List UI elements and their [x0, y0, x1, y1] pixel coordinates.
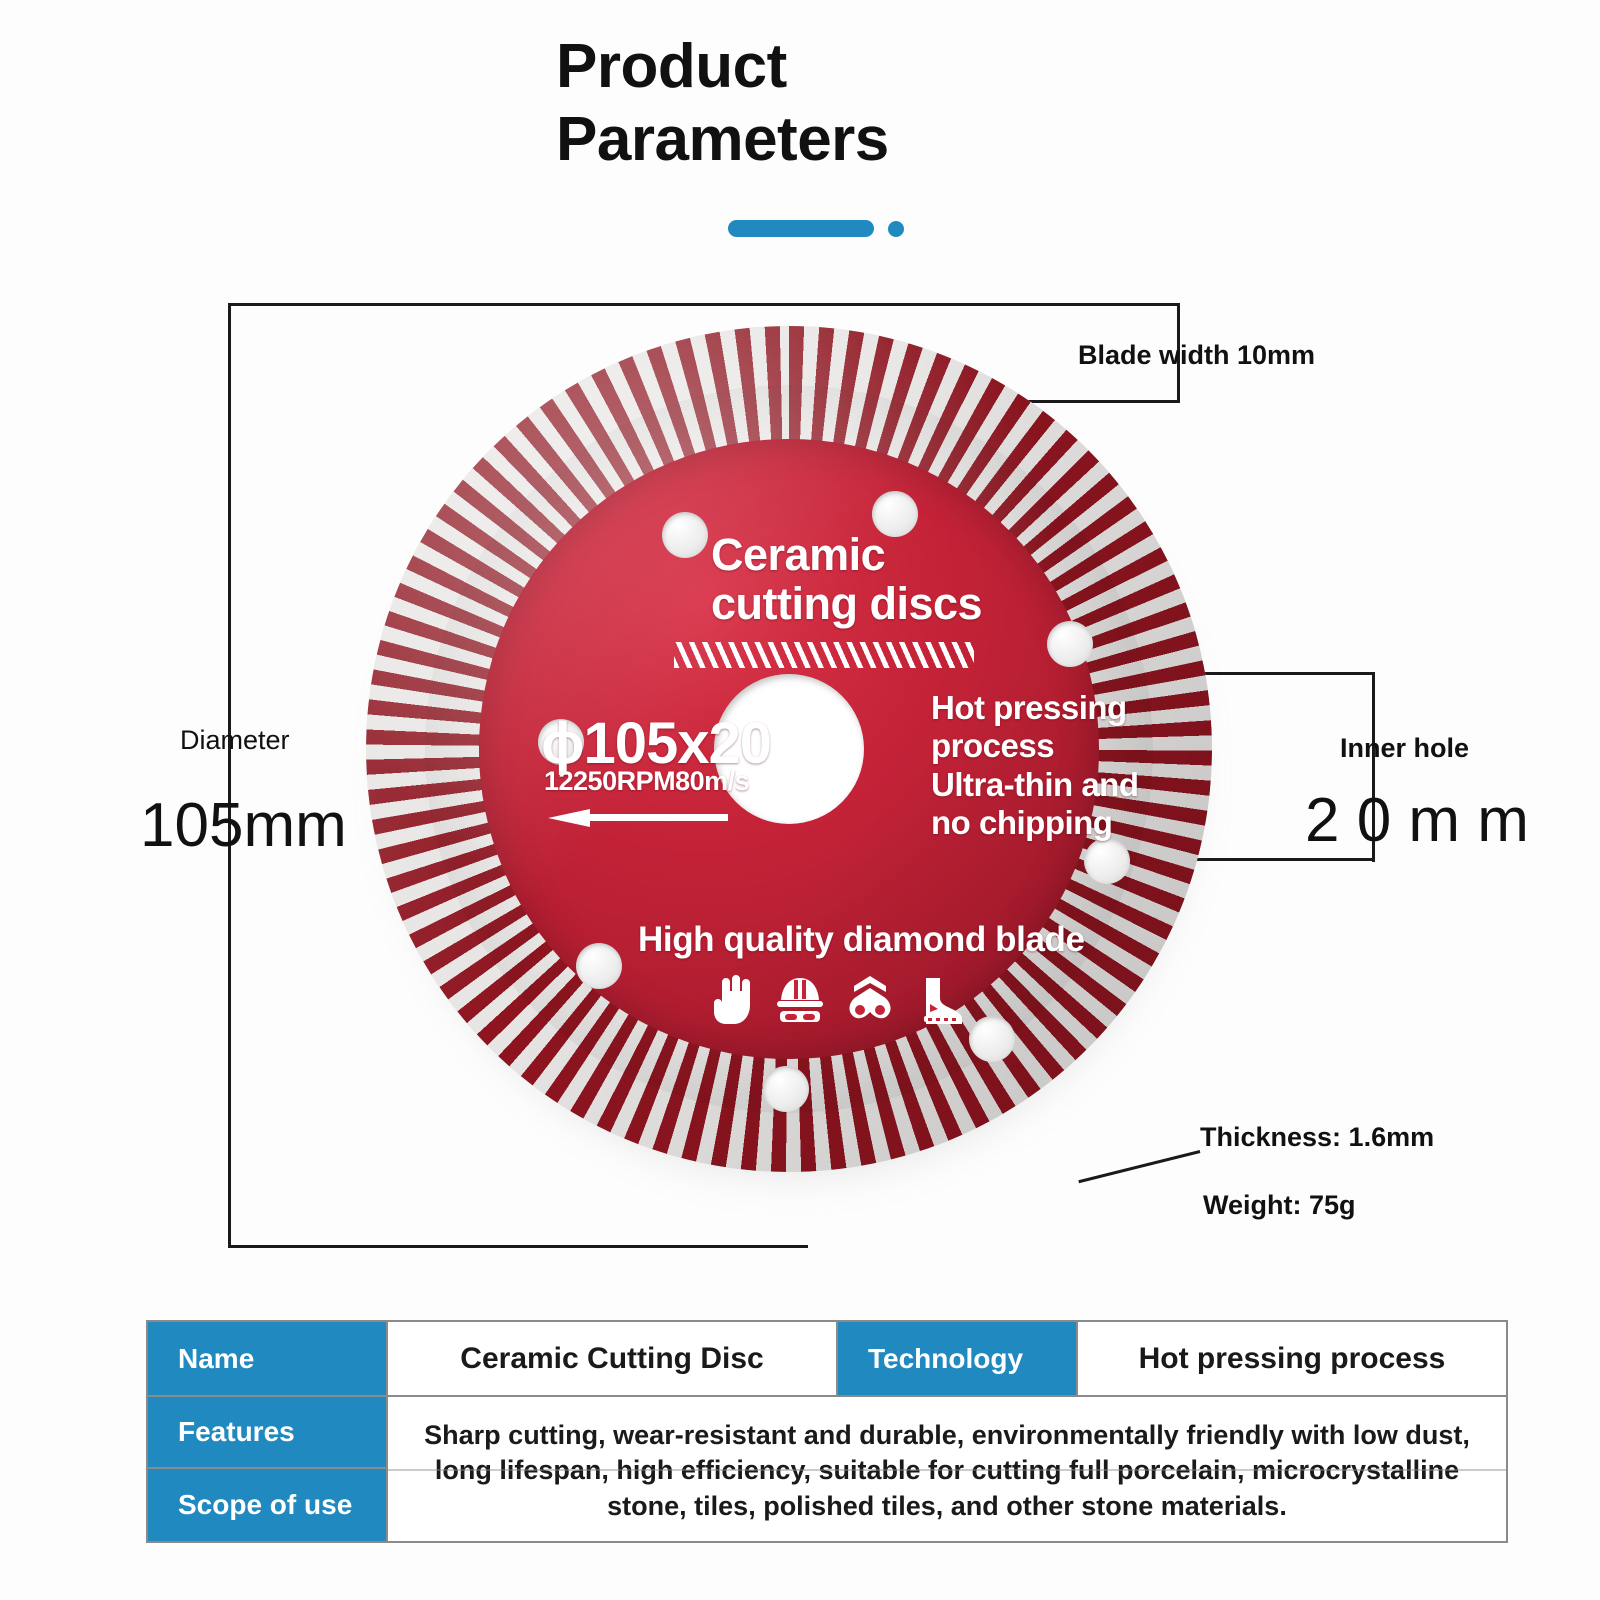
- diameter-bracket-bottom: [228, 1245, 808, 1248]
- inner-hole-label: Inner hole: [1340, 733, 1469, 764]
- table-value-name: Ceramic Cutting Disc: [388, 1322, 838, 1397]
- title-underline-bar: [728, 220, 874, 237]
- cutting-disc-illustration: Ceramic cutting discs ϕ105x20 12250RPM80…: [338, 300, 1238, 1200]
- disc-feature-text: Hot pressingprocessUltra-thin andno chip…: [931, 689, 1138, 842]
- disc-quality-text: High quality diamond blade: [638, 920, 1085, 960]
- table-row: Features Scope of use Sharp cutting, wea…: [148, 1397, 1506, 1541]
- mount-hole: [1047, 621, 1093, 667]
- specification-table: Name Ceramic Cutting Disc Technology Hot…: [146, 1320, 1508, 1543]
- diameter-value: 105mm: [140, 790, 347, 861]
- disc-brand-title-line-2: cutting discs: [711, 580, 982, 629]
- ppe-icon-row: [706, 974, 964, 1024]
- title-underline-dot: [888, 221, 904, 237]
- table-merged-seam: [388, 1469, 1506, 1471]
- disc-body: Ceramic cutting discs ϕ105x20 12250RPM80…: [366, 326, 1212, 1172]
- table-row: Name Ceramic Cutting Disc Technology Hot…: [148, 1322, 1506, 1397]
- table-label-technology: Technology: [838, 1322, 1078, 1397]
- diameter-label: Diameter: [180, 725, 290, 756]
- table-value-technology: Hot pressing process: [1078, 1322, 1506, 1397]
- disc-brand-title: Ceramic cutting discs: [711, 531, 982, 628]
- mount-hole: [1084, 838, 1130, 884]
- mount-hole: [576, 943, 622, 989]
- hard-hat-goggles-icon: [776, 974, 824, 1024]
- table-label-name: Name: [148, 1322, 388, 1397]
- page-title-line-2: Parameters: [556, 103, 1196, 176]
- page-title: Product Parameters: [556, 30, 1196, 176]
- table-merged-labels: Features Scope of use: [148, 1397, 388, 1541]
- respirator-mask-icon: [846, 974, 894, 1024]
- disc-brand-title-line-1: Ceramic: [711, 531, 982, 580]
- diameter-bracket-vertical: [228, 303, 231, 1248]
- product-parameters-page: Product Parameters Diameter 105mm Blade …: [0, 0, 1600, 1600]
- table-label-scope-of-use: Scope of use: [148, 1469, 388, 1541]
- mount-hole: [969, 1016, 1015, 1062]
- table-label-features: Features: [148, 1397, 388, 1469]
- glove-icon: [706, 974, 754, 1024]
- disc-spec-rpm: 12250RPM80m/s: [544, 766, 749, 797]
- mount-hole: [662, 512, 708, 558]
- page-title-line-1: Product: [556, 30, 1196, 103]
- inner-hole-value: 2 0 m m: [1305, 785, 1529, 856]
- rotation-direction-arrow-icon: [548, 808, 728, 828]
- hatch-decoration: [674, 642, 974, 668]
- safety-boot-icon: [916, 974, 964, 1024]
- mount-hole: [763, 1066, 809, 1112]
